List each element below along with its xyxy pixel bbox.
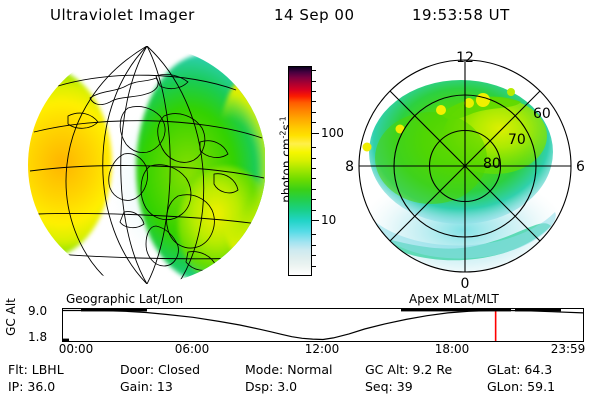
status-mode: Mode: Normal <box>245 362 332 377</box>
status-seq: Seq: 39 <box>365 379 413 394</box>
colorbar-minor-tick <box>311 112 316 113</box>
polar-plot-svg: 12 6 0 18 60 70 80 <box>345 40 595 292</box>
colorbar-panel: photon cm-2s-1 10010 <box>268 60 324 292</box>
timeline-xtick-label: 00:00 <box>59 342 94 356</box>
altitude-curve <box>63 311 583 340</box>
colorbar-minor-tick <box>311 266 316 267</box>
colorbar-minor-tick <box>311 70 316 71</box>
polar-mlat-label-80: 80 <box>483 156 501 172</box>
status-gcalt: GC Alt: 9.2 Re <box>365 362 452 377</box>
polar-mlt-label-0: 0 <box>461 276 470 292</box>
timeline-xtick-label: 06:00 <box>175 342 210 356</box>
globe-graticule-and-coastlines <box>28 46 265 284</box>
status-flt: Flt: LBHL <box>8 362 64 377</box>
colorbar-minor-tick <box>311 81 316 82</box>
status-bar: Flt: LBHL Door: Closed Mode: Normal GC A… <box>0 360 600 398</box>
colorbar-minor-tick <box>311 199 316 200</box>
colorbar-minor-tick <box>311 91 316 92</box>
status-door: Door: Closed <box>120 362 200 377</box>
polar-mlt-label-18: 18 <box>345 159 354 175</box>
status-dsp: Dsp: 3.0 <box>245 379 297 394</box>
orbit-altitude-timeline[interactable]: GC Alt Geographic Lat/Lon Apex MLat/MLT … <box>0 292 600 356</box>
polar-mlat-label-70: 70 <box>508 132 526 148</box>
polar-mlt-label-6: 6 <box>576 159 585 175</box>
colorbar-minor-tick <box>311 234 316 235</box>
timeline-xtick-label: 23:59 <box>551 342 586 356</box>
status-ip: IP: 36.0 <box>8 379 55 394</box>
colorbar-minor-tick <box>311 178 316 179</box>
colorbar-minor-tick <box>311 189 316 190</box>
data-availability-bars <box>63 309 561 341</box>
header-bar: Ultraviolet Imager 14 Sep 00 19:53:58 UT <box>0 6 600 28</box>
status-glat: GLat: 64.3 <box>487 362 552 377</box>
colorbar-unit-sup2: -1 <box>279 116 288 124</box>
earth-disc <box>28 46 265 284</box>
globe-clip <box>10 42 265 290</box>
globe-image-panel[interactable] <box>10 42 265 290</box>
timeline-y-axis-label: GC Alt <box>4 294 18 340</box>
timeline-xtick-label: 12:00 <box>305 342 340 356</box>
timeline-plot-svg <box>63 309 583 341</box>
colorbar-minor-tick <box>311 245 316 246</box>
colorbar-minor-tick <box>311 210 316 211</box>
colorbar-unit-sup1: -2 <box>279 130 288 138</box>
colorbar-major-tick <box>311 220 319 221</box>
timeline-ytick-min: 1.8 <box>28 330 47 344</box>
colorbar-minor-tick <box>311 255 316 256</box>
timeline-plot-box[interactable] <box>62 308 584 342</box>
colorbar-major-tick <box>311 133 319 134</box>
polar-mlat-label-60: 60 <box>533 106 551 122</box>
globe-panel-caption: Geographic Lat/Lon <box>66 292 183 306</box>
colorbar-minor-tick <box>311 101 316 102</box>
colorbar-minor-tick <box>311 147 316 148</box>
timeline-xtick-label: 18:00 <box>435 342 470 356</box>
status-gain: Gain: 13 <box>120 379 173 394</box>
header-date: 14 Sep 00 <box>274 6 354 24</box>
colorbar-tick-label: 100 <box>321 126 344 140</box>
colorbar-minor-tick <box>311 168 316 169</box>
polar-mlt-label-12: 12 <box>456 50 474 66</box>
status-glon: GLon: 59.1 <box>487 379 555 394</box>
colorbar-gradient[interactable] <box>288 66 312 276</box>
colorbar-minor-tick <box>311 122 316 123</box>
colorbar-tick-label: 10 <box>321 213 336 227</box>
polar-grid <box>359 60 571 272</box>
polar-panel-caption: Apex MLat/MLT <box>409 292 499 306</box>
header-time: 19:53:58 UT <box>412 6 510 24</box>
timeline-ytick-max: 9.0 <box>28 304 47 318</box>
page-title: Ultraviolet Imager <box>50 6 195 24</box>
colorbar-minor-tick <box>311 158 316 159</box>
polar-plot-panel[interactable]: 12 6 0 18 60 70 80 <box>345 40 595 292</box>
